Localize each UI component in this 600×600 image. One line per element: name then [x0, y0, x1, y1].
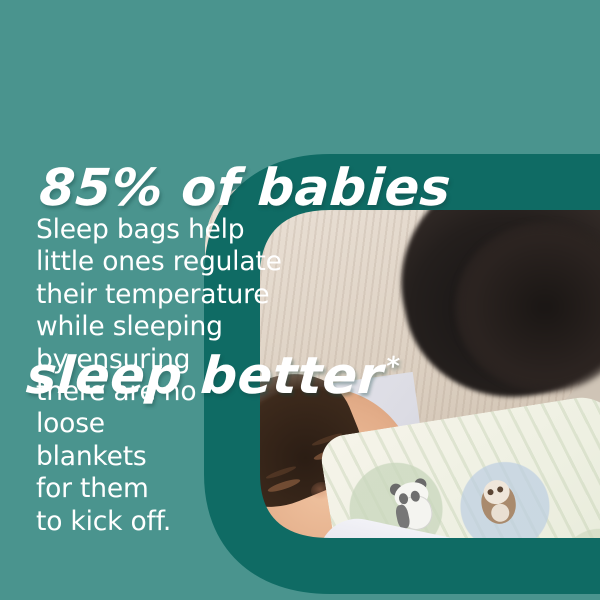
body-copy: Sleep bags help little ones regulate the…	[36, 214, 336, 538]
poster-copy: 85% of babies sleep better* Sleep bags h…	[0, 0, 600, 600]
footnote-asterisk: *	[385, 352, 401, 382]
sleep-bag-promo-poster: 85% of babies sleep better* Sleep bags h…	[0, 0, 600, 600]
headline-line-1: 85% of babies	[37, 158, 581, 220]
